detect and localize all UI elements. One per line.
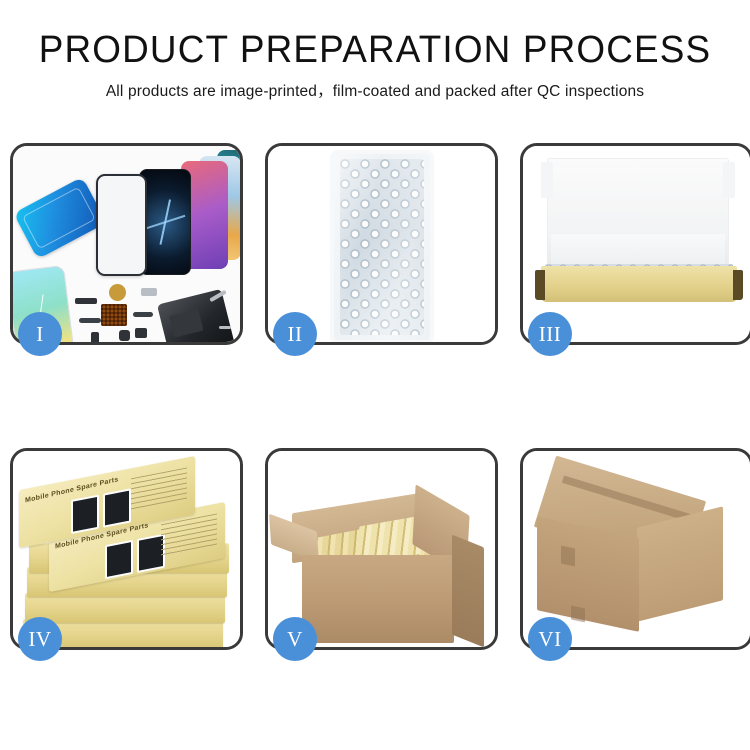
step-badge-v: V xyxy=(273,617,317,661)
retail-box-spec-lines-1 xyxy=(131,467,187,512)
spare-part-flex-cable-2 xyxy=(133,312,153,317)
sealed-carton-right-face xyxy=(637,506,723,621)
step-badge-i: I xyxy=(18,312,62,356)
spare-part-camera-module xyxy=(119,330,130,341)
step-panel-vi[interactable]: VI xyxy=(520,448,750,650)
spare-part-connector-grid xyxy=(101,304,127,326)
spare-part-screw-set xyxy=(219,326,231,329)
step-badge-iv: IV xyxy=(18,617,62,661)
step-badge-iii: III xyxy=(528,312,572,356)
step-panel-v[interactable]: V xyxy=(265,448,498,650)
retail-box-layer-4 xyxy=(25,593,225,623)
carton-body-open xyxy=(302,555,454,643)
retail-box-window-1a xyxy=(71,495,99,534)
step-panel-iv[interactable]: Mobile Phone Spare Parts Mobile Phone Sp… xyxy=(10,448,243,650)
bubble-wrap-bag xyxy=(334,154,430,340)
retail-box-spec-lines-2 xyxy=(161,513,217,558)
spare-part-bracket-1 xyxy=(141,288,157,296)
phone-logic-board xyxy=(157,289,235,342)
bag-sheen-overlay xyxy=(334,154,430,340)
step-panel-iii[interactable]: III xyxy=(520,143,750,345)
spare-part-battery xyxy=(75,298,97,304)
spare-part-sim-tray xyxy=(91,332,99,342)
sealed-carton-tape-tab-lower xyxy=(571,606,585,623)
phone-glass-panel xyxy=(96,174,147,276)
spare-part-gold-coil xyxy=(109,284,126,301)
process-step-grid: I II III Mobile xyxy=(10,143,740,680)
step-badge-vi: VI xyxy=(528,617,572,661)
phone-back-cover-blue xyxy=(13,177,106,260)
retail-box-window-2a xyxy=(105,540,133,579)
step-panel-i[interactable]: I xyxy=(10,143,243,345)
page-subtitle: All products are image-printed，film-coat… xyxy=(0,81,750,103)
inner-box-tray xyxy=(541,266,737,302)
sealed-carton-tape-tab-upper xyxy=(561,546,575,567)
retail-box-window-1b xyxy=(103,488,131,527)
step-panel-ii[interactable]: II xyxy=(265,143,498,345)
foam-liner xyxy=(551,234,725,268)
spare-part-speaker xyxy=(135,328,147,338)
spare-part-flex-cable-1 xyxy=(79,318,101,323)
page-header: PRODUCT PREPARATION PROCESS All products… xyxy=(0,0,750,103)
page-title: PRODUCT PREPARATION PROCESS xyxy=(11,28,739,72)
step-badge-ii: II xyxy=(273,312,317,356)
